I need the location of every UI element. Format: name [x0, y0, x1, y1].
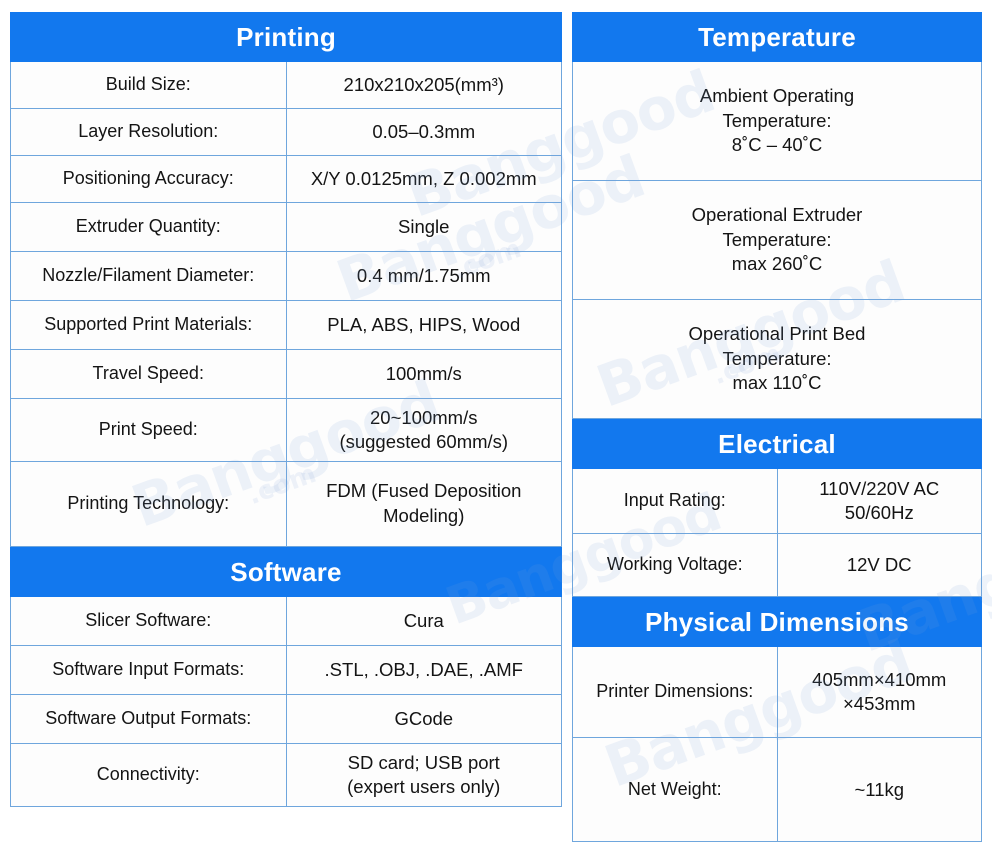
row-label: Input Rating: — [573, 469, 778, 534]
table-row: Input Rating: 110V/220V AC 50/60Hz — [573, 469, 982, 534]
section-title-physical-dimensions: Physical Dimensions — [573, 598, 982, 647]
row-label: Net Weight: — [573, 738, 778, 842]
row-value: 100mm/s — [286, 350, 562, 399]
row-value: 405mm×410mm ×453mm — [777, 647, 982, 738]
section-header-row: Electrical — [573, 420, 982, 469]
row-label: Slicer Software: — [11, 597, 287, 646]
table-row: Net Weight: ~11kg — [573, 738, 982, 842]
row-label: Extruder Quantity: — [11, 203, 287, 252]
table-row: Working Voltage: 12V DC — [573, 534, 982, 597]
row-value: PLA, ABS, HIPS, Wood — [286, 301, 562, 350]
table-row: Software Output Formats: GCode — [11, 695, 562, 744]
row-value: Operational Extruder Temperature: max 26… — [573, 181, 982, 300]
section-printing: Printing Build Size: 210x210x205(mm³) La… — [10, 12, 562, 547]
row-label: Printing Technology: — [11, 462, 287, 547]
table-row: Print Speed: 20~100mm/s (suggested 60mm/… — [11, 399, 562, 462]
table-row: Connectivity: SD card; USB port (expert … — [11, 744, 562, 807]
row-label: Print Speed: — [11, 399, 287, 462]
table-row: Extruder Quantity: Single — [11, 203, 562, 252]
row-value: 12V DC — [777, 534, 982, 597]
row-label: Nozzle/Filament Diameter: — [11, 252, 287, 301]
row-label: Travel Speed: — [11, 350, 287, 399]
row-label: Positioning Accuracy: — [11, 156, 287, 203]
row-label: Software Output Formats: — [11, 695, 287, 744]
row-label: Working Voltage: — [573, 534, 778, 597]
row-value: SD card; USB port (expert users only) — [286, 744, 562, 807]
table-row: Build Size: 210x210x205(mm³) — [11, 62, 562, 109]
row-value: ~11kg — [777, 738, 982, 842]
row-label: Layer Resolution: — [11, 109, 287, 156]
row-label: Build Size: — [11, 62, 287, 109]
row-label: Software Input Formats: — [11, 646, 287, 695]
spec-sheet: Printing Build Size: 210x210x205(mm³) La… — [0, 0, 992, 810]
row-value: 0.05–0.3mm — [286, 109, 562, 156]
section-title-temperature: Temperature — [573, 13, 982, 62]
row-value: 0.4 mm/1.75mm — [286, 252, 562, 301]
row-value: Operational Print Bed Temperature: max 1… — [573, 300, 982, 419]
row-value: FDM (Fused Deposition Modeling) — [286, 462, 562, 547]
row-value: .STL, .OBJ, .DAE, .AMF — [286, 646, 562, 695]
left-column: Printing Build Size: 210x210x205(mm³) La… — [10, 12, 562, 807]
section-physical-dimensions: Physical Dimensions Printer Dimensions: … — [572, 597, 982, 842]
table-row: Travel Speed: 100mm/s — [11, 350, 562, 399]
table-row: Operational Extruder Temperature: max 26… — [573, 181, 982, 300]
row-value: 20~100mm/s (suggested 60mm/s) — [286, 399, 562, 462]
section-header-row: Physical Dimensions — [573, 598, 982, 647]
section-title-printing: Printing — [11, 13, 562, 62]
table-row: Printing Technology: FDM (Fused Depositi… — [11, 462, 562, 547]
row-value: GCode — [286, 695, 562, 744]
table-row: Printer Dimensions: 405mm×410mm ×453mm — [573, 647, 982, 738]
table-row: Supported Print Materials: PLA, ABS, HIP… — [11, 301, 562, 350]
section-software: Software Slicer Software: Cura Software … — [10, 547, 562, 807]
section-title-software: Software — [11, 548, 562, 597]
table-row: Slicer Software: Cura — [11, 597, 562, 646]
row-label: Connectivity: — [11, 744, 287, 807]
section-header-row: Software — [11, 548, 562, 597]
right-column: Temperature Ambient Operating Temperatur… — [572, 12, 982, 842]
section-header-row: Printing — [11, 13, 562, 62]
section-title-electrical: Electrical — [573, 420, 982, 469]
row-value: X/Y 0.0125mm, Z 0.002mm — [286, 156, 562, 203]
section-electrical: Electrical Input Rating: 110V/220V AC 50… — [572, 419, 982, 597]
row-value: Single — [286, 203, 562, 252]
row-value: Ambient Operating Temperature: 8˚C – 40˚… — [573, 62, 982, 181]
row-label: Supported Print Materials: — [11, 301, 287, 350]
row-value: 210x210x205(mm³) — [286, 62, 562, 109]
table-row: Nozzle/Filament Diameter: 0.4 mm/1.75mm — [11, 252, 562, 301]
table-row: Positioning Accuracy: X/Y 0.0125mm, Z 0.… — [11, 156, 562, 203]
row-value: Cura — [286, 597, 562, 646]
section-header-row: Temperature — [573, 13, 982, 62]
section-temperature: Temperature Ambient Operating Temperatur… — [572, 12, 982, 419]
table-row: Ambient Operating Temperature: 8˚C – 40˚… — [573, 62, 982, 181]
row-value: 110V/220V AC 50/60Hz — [777, 469, 982, 534]
table-row: Operational Print Bed Temperature: max 1… — [573, 300, 982, 419]
table-row: Software Input Formats: .STL, .OBJ, .DAE… — [11, 646, 562, 695]
row-label: Printer Dimensions: — [573, 647, 778, 738]
table-row: Layer Resolution: 0.05–0.3mm — [11, 109, 562, 156]
